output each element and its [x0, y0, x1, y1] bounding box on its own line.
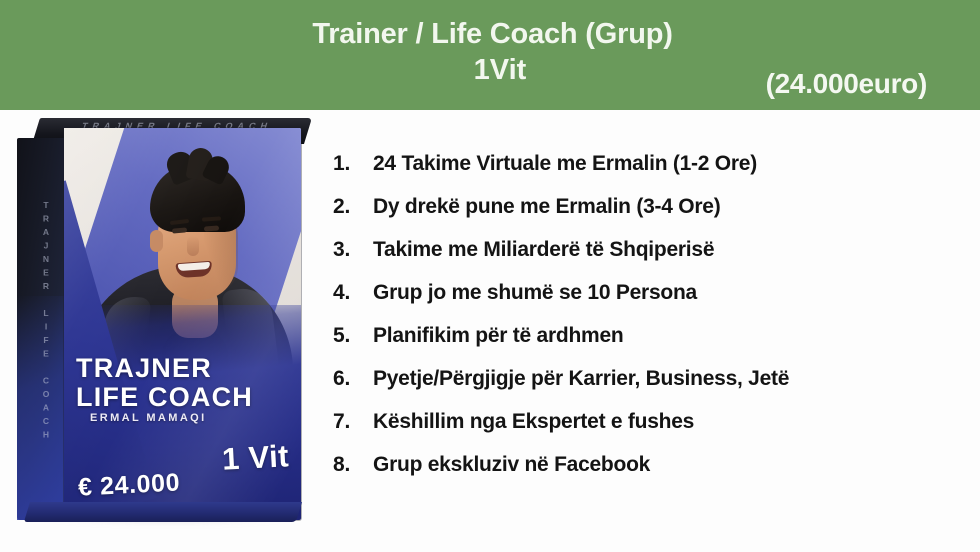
cover-title-line1: TRAJNER: [76, 353, 212, 383]
list-item: 4. Grup jo me shumë se 10 Persona: [333, 281, 953, 324]
cover-price-label: € 24.000: [77, 468, 181, 502]
header-band: Trainer / Life Coach (Grup) 1Vit (24.000…: [0, 0, 980, 110]
slide-canvas: Trainer / Life Coach (Grup) 1Vit (24.000…: [0, 0, 980, 552]
list-item-label: Planifikim për të ardhmen: [373, 324, 624, 348]
product-box-image: TRAJNER LIFE COACH TRAJNER LIFE COACH: [12, 116, 312, 526]
list-item: 3. Takime me Miliarderë të Shqiperisë: [333, 238, 953, 281]
list-item-number: 1.: [333, 152, 373, 176]
list-item-number: 2.: [333, 195, 373, 219]
cover-author-name: ERMAL MAMAQI: [90, 412, 207, 424]
list-item-label: 24 Takime Virtuale me Ermalin (1-2 Ore): [373, 152, 757, 176]
product-box-bottom-face: [24, 502, 302, 522]
list-item-number: 7.: [333, 410, 373, 434]
list-item-number: 8.: [333, 453, 373, 477]
list-item-label: Grup ekskluziv në Facebook: [373, 453, 650, 477]
list-item-label: Dy drekë pune me Ermalin (3-4 Ore): [373, 195, 720, 219]
list-item: 8. Grup ekskluziv në Facebook: [333, 453, 953, 496]
list-item-label: Pyetje/Përgjigje për Karrier, Business, …: [373, 367, 789, 391]
page-title: Trainer / Life Coach (Grup): [150, 20, 835, 49]
list-item: 1. 24 Takime Virtuale me Ermalin (1-2 Or…: [333, 152, 953, 195]
list-item-number: 6.: [333, 367, 373, 391]
list-item: 7. Këshillim nga Ekspertet e fushes: [333, 410, 953, 453]
portrait-ear: [150, 230, 163, 252]
header-price-label: (24.000euro): [766, 68, 927, 100]
cover-title: TRAJNER LIFE COACH: [76, 354, 286, 411]
page-subtitle-duration: 1Vit: [150, 56, 850, 85]
cover-title-line2: LIFE COACH: [76, 383, 286, 412]
cover-term-label: 1 Vit: [221, 438, 290, 477]
list-item-label: Takime me Miliarderë të Shqiperisë: [373, 238, 714, 262]
list-item: 5. Planifikim për të ardhmen: [333, 324, 953, 367]
list-item: 2. Dy drekë pune me Ermalin (3-4 Ore): [333, 195, 953, 238]
product-box-spine-text: TRAJNER LIFE COACH: [27, 176, 51, 466]
list-item-label: Këshillim nga Ekspertet e fushes: [373, 410, 694, 434]
list-item-number: 5.: [333, 324, 373, 348]
list-item-number: 4.: [333, 281, 373, 305]
portrait-eye-right: [204, 225, 219, 231]
list-item-number: 3.: [333, 238, 373, 262]
portrait-nose: [187, 236, 199, 256]
feature-list: 1. 24 Takime Virtuale me Ermalin (1-2 Or…: [333, 152, 953, 496]
product-box-front-face: TRAJNER LIFE COACH ERMAL MAMAQI € 24.000…: [64, 128, 301, 520]
list-item: 6. Pyetje/Përgjigje për Karrier, Busines…: [333, 367, 953, 410]
list-item-label: Grup jo me shumë se 10 Persona: [373, 281, 697, 305]
